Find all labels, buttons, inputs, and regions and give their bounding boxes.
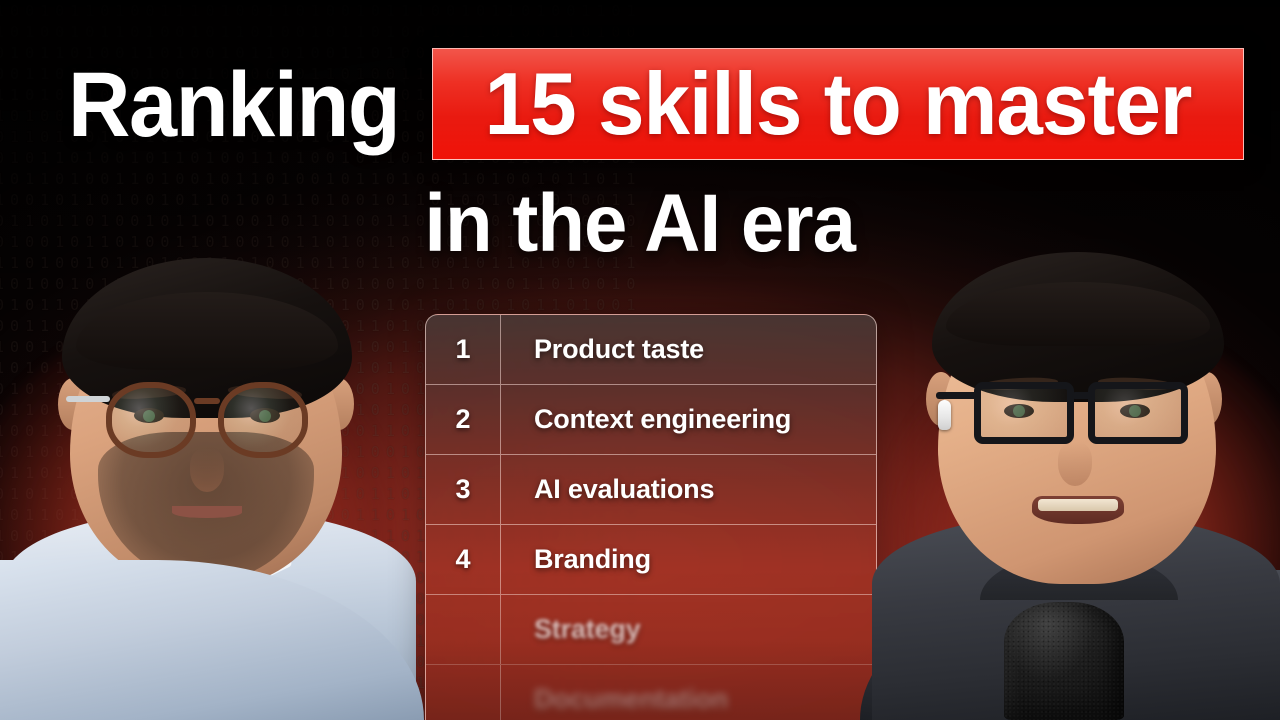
speaker-left-nose: [190, 448, 224, 492]
title-word-ranking: Ranking: [68, 59, 399, 151]
ranking-row-divider: [500, 455, 501, 524]
ranking-row-label: Product taste: [500, 336, 704, 363]
speaker-right-teeth: [1038, 499, 1118, 511]
ranking-row-label: AI evaluations: [500, 476, 714, 503]
speaker-left: [0, 200, 426, 720]
speaker-left-glasses-temple: [66, 396, 110, 402]
ranking-row: 5Strategy: [426, 595, 876, 665]
speaker-right-earbud: [938, 400, 951, 430]
title-line-2: in the AI era: [0, 176, 1280, 272]
title-highlight-box: 15 skills to master: [432, 48, 1244, 160]
ranking-row: 6Documentation: [426, 665, 876, 720]
ranking-row-divider: [500, 385, 501, 454]
ranking-panel: 1Product taste2Context engineering3AI ev…: [425, 314, 877, 720]
thumbnail-canvas: 1011010011001101001011010001101001100101…: [0, 0, 1280, 720]
speaker-left-lens-left: [106, 382, 196, 458]
speaker-left-microphone: [110, 590, 230, 720]
ranking-row: 4Branding: [426, 525, 876, 595]
ranking-row-label: Branding: [500, 546, 651, 573]
ranking-row-divider: [500, 315, 501, 384]
speaker-right-glasses-temple: [936, 392, 978, 399]
speaker-right-glasses-bridge: [1072, 392, 1092, 399]
ranking-row: 1Product taste: [426, 315, 876, 385]
ranking-row-label: Strategy: [500, 616, 640, 643]
speaker-right: [876, 200, 1276, 720]
speaker-right-lens-left: [974, 382, 1074, 444]
speaker-left-lens-right: [218, 382, 308, 458]
ranking-list: 1Product taste2Context engineering3AI ev…: [426, 315, 876, 720]
speaker-right-microphone: [1004, 602, 1124, 720]
ranking-row-number: 3: [426, 476, 500, 503]
title-subtitle-text: in the AI era: [425, 183, 856, 265]
ranking-row-divider: [500, 525, 501, 594]
title-highlight-text: 15 skills to master: [485, 60, 1192, 148]
speaker-right-nose: [1058, 442, 1092, 486]
ranking-row-number: 4: [426, 546, 500, 573]
ranking-row: 3AI evaluations: [426, 455, 876, 525]
ranking-row-label: Documentation: [500, 686, 728, 713]
ranking-row-number: 2: [426, 406, 500, 433]
ranking-row: 2Context engineering: [426, 385, 876, 455]
speaker-right-lens-right: [1088, 382, 1188, 444]
speaker-left-mouth: [172, 506, 242, 518]
speaker-left-glasses-bridge: [194, 398, 220, 404]
ranking-row-label: Context engineering: [500, 406, 791, 433]
ranking-row-number: 1: [426, 336, 500, 363]
speaker-right-mouth: [1032, 496, 1124, 524]
